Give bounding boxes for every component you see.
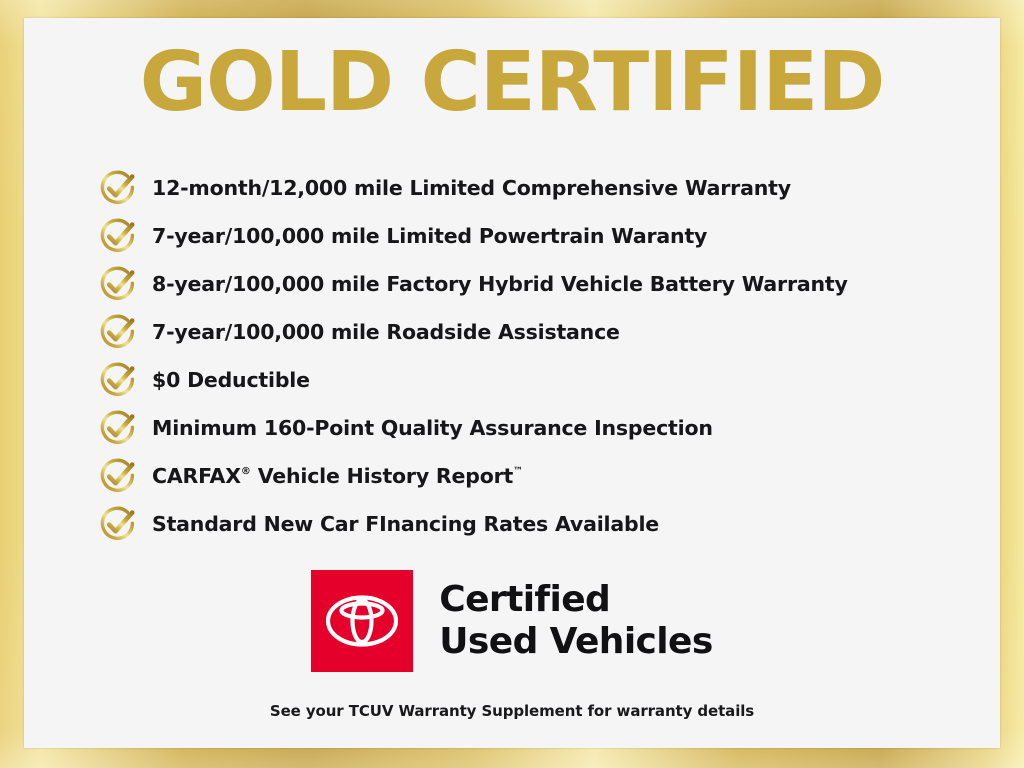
certificate-gold-frame: GOLD CERTIFIED [0, 0, 1024, 768]
gold-check-circle-icon [96, 310, 140, 354]
tcuv-wordmark-line1: Certified [439, 579, 712, 621]
gold-check-circle-icon [96, 358, 140, 402]
gold-check-circle-icon [96, 166, 140, 210]
gold-check-circle-icon [96, 214, 140, 258]
list-item: Standard New Car FInancing Rates Availab… [96, 500, 976, 548]
carfax-label-rest: Vehicle History Report [251, 464, 513, 488]
benefits-list: 12-month/12,000 mile Limited Comprehensi… [96, 164, 976, 548]
page-title: GOLD CERTIFIED [24, 42, 1000, 124]
trademark-mark: ™ [513, 466, 523, 477]
certificate-card: GOLD CERTIFIED [24, 18, 1000, 748]
gold-check-circle-icon [96, 262, 140, 306]
list-item-label: 7-year/100,000 mile Limited Powertrain W… [152, 226, 707, 247]
gold-check-circle-icon [96, 454, 140, 498]
list-item-label: Standard New Car FInancing Rates Availab… [152, 514, 659, 535]
carfax-brand: CARFAX [152, 464, 241, 488]
list-item-label: 7-year/100,000 mile Roadside Assistance [152, 322, 620, 343]
toyota-emblem-icon [311, 570, 413, 672]
list-item: 12-month/12,000 mile Limited Comprehensi… [96, 164, 976, 212]
gold-check-circle-icon [96, 502, 140, 546]
list-item: $0 Deductible [96, 356, 976, 404]
list-item-label-carfax: CARFAX® Vehicle History Report™ [152, 466, 523, 487]
tcuv-logo-lockup: Certified Used Vehicles [24, 570, 1000, 672]
list-item-label: 8-year/100,000 mile Factory Hybrid Vehic… [152, 274, 848, 295]
gold-check-circle-icon [96, 406, 140, 450]
list-item: Minimum 160-Point Quality Assurance Insp… [96, 404, 976, 452]
list-item: 7-year/100,000 mile Roadside Assistance [96, 308, 976, 356]
footer-disclaimer: See your TCUV Warranty Supplement for wa… [24, 702, 1000, 720]
list-item: 7-year/100,000 mile Limited Powertrain W… [96, 212, 976, 260]
tcuv-wordmark: Certified Used Vehicles [439, 579, 712, 663]
list-item-label: 12-month/12,000 mile Limited Comprehensi… [152, 178, 791, 199]
list-item-label: $0 Deductible [152, 370, 310, 391]
tcuv-wordmark-line2: Used Vehicles [439, 621, 712, 663]
registered-mark: ® [241, 466, 251, 477]
list-item-label: Minimum 160-Point Quality Assurance Insp… [152, 418, 713, 439]
list-item: CARFAX® Vehicle History Report™ [96, 452, 976, 500]
list-item: 8-year/100,000 mile Factory Hybrid Vehic… [96, 260, 976, 308]
